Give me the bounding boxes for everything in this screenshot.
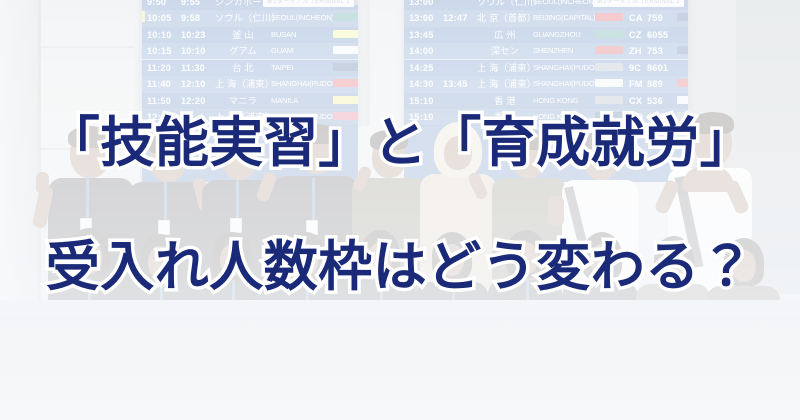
eyecatch-banner: 9:509:55シンガポールSINGAPORESQ638NH580410:059… [0,0,800,420]
white-gradient-overlay [0,0,800,420]
